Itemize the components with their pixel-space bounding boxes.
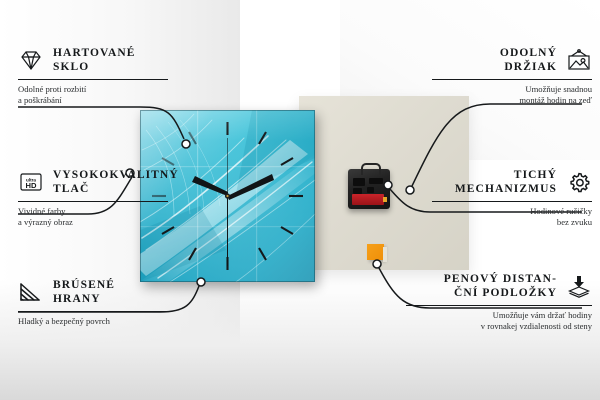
feature-desc-line2: a poškrábání	[18, 95, 168, 106]
feature-desc-line1: Odolné proti rozbití	[18, 84, 168, 95]
feature-title-line2: ČNÍ PODLOŽKY	[444, 286, 557, 300]
feature-title-line2: HRANY	[53, 292, 115, 306]
feature-foam-spacers: PENOVÝ DISTAN- ČNÍ PODLOŽKY Umožňuje vám…	[406, 272, 592, 333]
feature-divider	[18, 79, 168, 80]
feature-desc-line1: Umožňuje vám držať hodiny	[406, 310, 592, 321]
feature-title-line1: PENOVÝ DISTAN-	[444, 272, 557, 286]
feature-header: HARTOVANÉ SKLO	[18, 46, 168, 74]
feature-durable-holder: ODOLNÝ DRŽIAK Umožňuje snadnou montáž ho…	[432, 46, 592, 107]
product-infographic: HARTOVANÉ SKLO Odolné proti rozbití a po…	[0, 0, 600, 400]
feature-title-line2: MECHANIZMUS	[455, 182, 557, 196]
feature-description: Odolné proti rozbití a poškrábání	[18, 84, 168, 107]
feature-title: ODOLNÝ DRŽIAK	[500, 46, 557, 74]
feature-desc-line1: Vividné farby	[18, 206, 168, 217]
feature-header: PENOVÝ DISTAN- ČNÍ PODLOŽKY	[406, 272, 592, 300]
feature-title: BRÚSENÉ HRANY	[53, 278, 115, 306]
feature-header: ultra HD VYSOKOKVALITNÝ TLAČ	[18, 168, 168, 196]
feature-title-line1: HARTOVANÉ	[53, 46, 136, 60]
feature-desc-line2: montáž hodin na zeď	[432, 95, 592, 106]
connector-endpoint-dots	[126, 140, 414, 286]
feature-title-line1: TICHÝ	[455, 168, 557, 182]
feature-title-line2: TLAČ	[53, 182, 179, 196]
feature-divider	[18, 311, 168, 312]
feature-divider	[432, 79, 592, 80]
feature-desc-line1: Hladký a bezpečný povrch	[18, 316, 168, 327]
feature-divider	[406, 305, 592, 306]
gear-icon	[566, 170, 592, 194]
feature-desc-line2: a výrazný obraz	[18, 217, 168, 228]
feature-description: Umožňuje vám držať hodiny v rovnakej vzd…	[406, 310, 592, 333]
feature-title-line2: DRŽIAK	[500, 60, 557, 74]
diamond-icon	[18, 48, 44, 72]
feature-description: Hodinové ručičky bez zvuku	[432, 206, 592, 229]
feature-divider	[432, 201, 592, 202]
feature-desc-line2: v rovnakej vzdialenosti od steny	[406, 321, 592, 332]
feature-ground-edges: BRÚSENÉ HRANY Hladký a bezpečný povrch	[18, 278, 168, 327]
feature-title: VYSOKOKVALITNÝ TLAČ	[53, 168, 179, 196]
feature-title: HARTOVANÉ SKLO	[53, 46, 136, 74]
feature-title: TICHÝ MECHANIZMUS	[455, 168, 557, 196]
feature-description: Vividné farby a výrazný obraz	[18, 206, 168, 229]
stacked-pads-arrow-icon	[566, 274, 592, 298]
feature-tempered-glass: HARTOVANÉ SKLO Odolné proti rozbití a po…	[18, 46, 168, 107]
feature-title-line1: ODOLNÝ	[500, 46, 557, 60]
feature-desc-line1: Hodinové ručičky	[432, 206, 592, 217]
feature-title-line1: BRÚSENÉ	[53, 278, 115, 292]
feature-title-line1: VYSOKOKVALITNÝ	[53, 168, 179, 182]
feature-header: ODOLNÝ DRŽIAK	[432, 46, 592, 74]
feature-description: Umožňuje snadnou montáž hodin na zeď	[432, 84, 592, 107]
feature-header: TICHÝ MECHANIZMUS	[432, 168, 592, 196]
connector-tempered-glass	[18, 107, 184, 139]
svg-text:HD: HD	[26, 181, 37, 190]
feature-silent-mechanism: TICHÝ MECHANIZMUS Hodinové ručičky bez z…	[432, 168, 592, 229]
ultra-hd-icon: ultra HD	[18, 170, 44, 194]
feature-title: PENOVÝ DISTAN- ČNÍ PODLOŽKY	[444, 272, 557, 300]
feature-header: BRÚSENÉ HRANY	[18, 278, 168, 306]
feature-description: Hladký a bezpečný povrch	[18, 316, 168, 327]
feature-title-line2: SKLO	[53, 60, 136, 74]
feature-divider	[18, 201, 168, 202]
feature-desc-line2: bez zvuku	[432, 217, 592, 228]
hatch-lines-icon	[18, 280, 44, 304]
picture-hanger-icon	[566, 48, 592, 72]
feature-hd-print: ultra HD VYSOKOKVALITNÝ TLAČ Vividné far…	[18, 168, 168, 229]
feature-desc-line1: Umožňuje snadnou	[432, 84, 592, 95]
